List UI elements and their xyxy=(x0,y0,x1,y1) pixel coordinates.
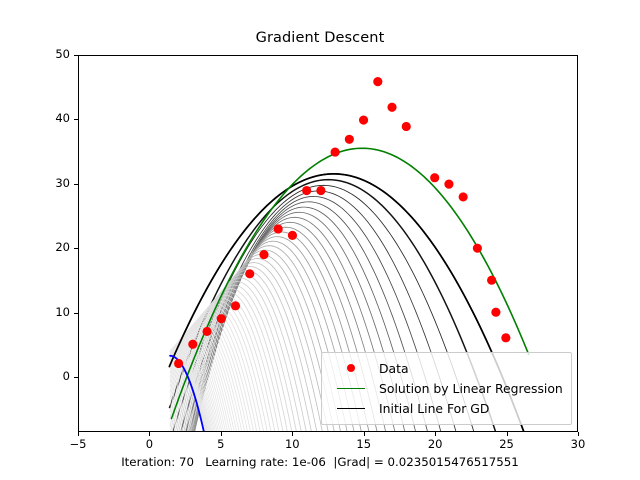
x-axis-label: Iteration: 70 Learning rate: 1e-06 |Grad… xyxy=(0,455,640,469)
data-point xyxy=(373,77,382,86)
y-tick-label: 0 xyxy=(26,369,70,383)
data-point xyxy=(188,340,197,349)
data-point xyxy=(274,224,283,233)
data-point xyxy=(345,135,354,144)
matplotlib-figure: Gradient Descent −5051015202530 01020304… xyxy=(0,0,640,480)
legend-dot-icon xyxy=(347,364,355,372)
x-tick-mark xyxy=(221,432,222,436)
y-tick-label: 30 xyxy=(26,176,70,190)
x-tick-mark xyxy=(435,432,436,436)
y-tick-mark xyxy=(74,184,78,185)
legend-label-data: Data xyxy=(371,361,409,376)
x-tick-mark xyxy=(78,432,79,436)
data-point xyxy=(359,115,368,124)
data-point xyxy=(202,327,211,336)
y-tick-label: 40 xyxy=(26,111,70,125)
x-tick-label: 10 xyxy=(269,437,315,451)
data-point xyxy=(231,301,240,310)
x-tick-mark xyxy=(364,432,365,436)
legend-item-initial-line: Initial Line For GD xyxy=(331,398,562,418)
x-tick-label: 30 xyxy=(555,437,601,451)
x-tick-mark xyxy=(507,432,508,436)
data-point xyxy=(430,173,439,182)
x-tick-label: 20 xyxy=(412,437,458,451)
data-point xyxy=(331,148,340,157)
y-tick-mark xyxy=(74,248,78,249)
y-tick-mark xyxy=(74,119,78,120)
x-tick-label: 5 xyxy=(198,437,244,451)
y-tick-mark xyxy=(74,377,78,378)
data-point xyxy=(174,359,183,368)
x-tick-mark xyxy=(292,432,293,436)
x-tick-label: 25 xyxy=(484,437,530,451)
legend-line-icon xyxy=(337,388,365,389)
legend-marker-data xyxy=(331,364,371,372)
data-point xyxy=(316,186,325,195)
legend-line-regression xyxy=(331,388,371,389)
chart-title: Gradient Descent xyxy=(0,30,640,46)
data-point xyxy=(473,244,482,253)
data-point xyxy=(259,250,268,259)
y-tick-label: 50 xyxy=(26,47,70,61)
x-tick-label: 15 xyxy=(341,437,387,451)
data-point xyxy=(501,333,510,342)
x-tick-label: −5 xyxy=(55,437,101,451)
legend-item-regression: Solution by Linear Regression xyxy=(331,378,562,398)
y-tick-mark xyxy=(74,313,78,314)
data-point xyxy=(444,180,453,189)
data-point xyxy=(387,103,396,112)
y-tick-label: 20 xyxy=(26,240,70,254)
x-tick-mark xyxy=(149,432,150,436)
data-point xyxy=(302,186,311,195)
legend-label-regression: Solution by Linear Regression xyxy=(371,381,563,396)
x-tick-label: 0 xyxy=(126,437,172,451)
legend-line-initial xyxy=(331,408,371,409)
legend-item-data: Data xyxy=(331,358,562,378)
x-tick-mark xyxy=(578,432,579,436)
legend-line-icon xyxy=(337,408,365,409)
data-point xyxy=(217,314,226,323)
legend-label-initial-line: Initial Line For GD xyxy=(371,401,489,416)
data-point xyxy=(288,231,297,240)
data-point xyxy=(487,276,496,285)
data-point xyxy=(459,192,468,201)
y-tick-label: 10 xyxy=(26,305,70,319)
data-point xyxy=(245,269,254,278)
chart-legend: Data Solution by Linear Regression Initi… xyxy=(321,352,572,425)
data-point xyxy=(402,122,411,131)
y-tick-mark xyxy=(74,55,78,56)
data-point xyxy=(491,308,500,317)
